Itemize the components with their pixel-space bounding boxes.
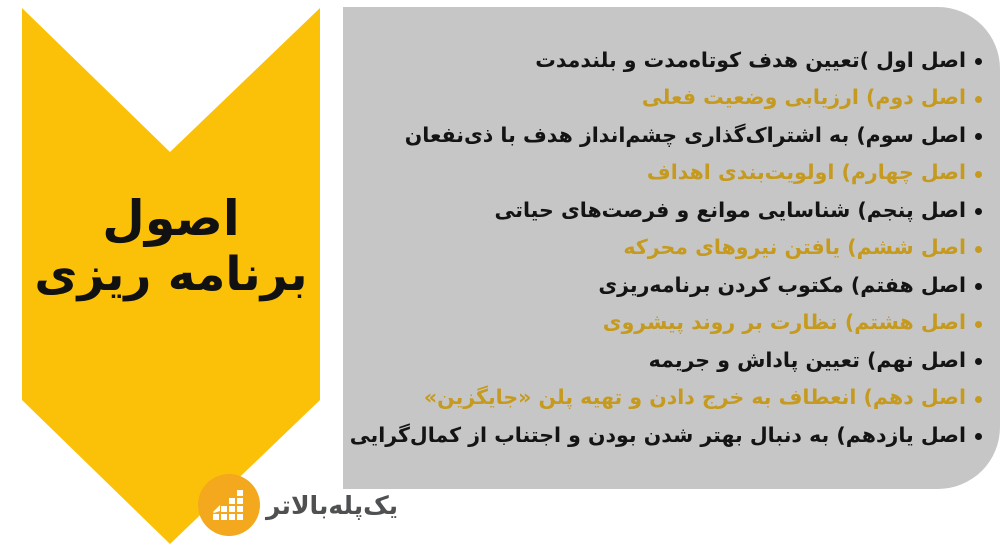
- principle-item: اصل اول )تعیین هدف کوتاه‌مدت و بلندمدت: [349, 42, 1000, 80]
- bullet-icon: [975, 208, 982, 215]
- principle-row: اصل پنجم) شناسایی موانع و فرصت‌های حیاتی: [495, 198, 982, 224]
- bullet-icon: [975, 58, 982, 65]
- principle-item: اصل سوم) به اشتراک‌گذاری چشم‌انداز هدف ب…: [349, 117, 1000, 155]
- principle-item: اصل دوم) ارزیابی وضعیت فعلی: [349, 79, 1000, 117]
- principle-text: اصل دوم) ارزیابی وضعیت فعلی: [642, 85, 966, 111]
- principle-item: اصل پنجم) شناسایی موانع و فرصت‌های حیاتی: [349, 192, 1000, 230]
- bullet-icon: [975, 321, 982, 328]
- principles-list: اصل اول )تعیین هدف کوتاه‌مدت و بلندمدتاص…: [343, 7, 1000, 489]
- principle-item: اصل هفتم) مکتوب کردن برنامه‌ریزی: [349, 267, 1000, 305]
- brand-name: یک‌پله‌بالاتر: [266, 491, 398, 520]
- principle-row: اصل دوم) ارزیابی وضعیت فعلی: [642, 85, 982, 111]
- bullet-icon: [975, 283, 982, 290]
- principle-item: اصل نهم) تعیین پاداش و جریمه: [349, 342, 1000, 380]
- principle-row: اصل هفتم) مکتوب کردن برنامه‌ریزی: [598, 273, 982, 299]
- banner-title-line2: برنامه ریزی: [22, 247, 320, 302]
- principle-item: اصل ششم) یافتن نیروهای محرکه: [349, 229, 1000, 267]
- principle-row: اصل یازدهم) به دنبال بهتر شدن بودن و اجت…: [350, 423, 982, 449]
- principle-row: اصل اول )تعیین هدف کوتاه‌مدت و بلندمدت: [535, 48, 982, 74]
- principle-row: اصل چهارم) اولویت‌بندی اهداف: [647, 160, 982, 186]
- principle-item: اصل دهم) انعطاف به خرج دادن و تهیه پلن «…: [349, 379, 1000, 417]
- principle-text: اصل ششم) یافتن نیروهای محرکه: [623, 235, 966, 261]
- principle-text: اصل یازدهم) به دنبال بهتر شدن بودن و اجت…: [350, 423, 966, 449]
- banner-title: اصول برنامه ریزی: [22, 192, 320, 302]
- bullet-icon: [975, 396, 982, 403]
- banner-title-line1: اصول: [22, 192, 320, 247]
- principle-text: اصل هفتم) مکتوب کردن برنامه‌ریزی: [598, 273, 966, 299]
- brand-logo[interactable]: یک‌پله‌بالاتر: [190, 474, 398, 536]
- principle-text: اصل اول )تعیین هدف کوتاه‌مدت و بلندمدت: [535, 48, 966, 74]
- principle-text: اصل سوم) به اشتراک‌گذاری چشم‌انداز هدف ب…: [405, 123, 966, 149]
- bullet-icon: [975, 133, 982, 140]
- principle-row: اصل سوم) به اشتراک‌گذاری چشم‌انداز هدف ب…: [405, 123, 982, 149]
- principle-row: اصل هشتم) نظارت بر روند پیشروی: [603, 310, 982, 336]
- bullet-icon: [975, 433, 982, 440]
- principle-item: اصل یازدهم) به دنبال بهتر شدن بودن و اجت…: [349, 417, 1000, 455]
- bullet-icon: [975, 171, 982, 178]
- principle-text: اصل پنجم) شناسایی موانع و فرصت‌های حیاتی: [495, 198, 966, 224]
- principle-text: اصل هشتم) نظارت بر روند پیشروی: [603, 310, 966, 336]
- principle-text: اصل نهم) تعیین پاداش و جریمه: [649, 348, 966, 374]
- principles-panel: اصل اول )تعیین هدف کوتاه‌مدت و بلندمدتاص…: [343, 7, 1000, 489]
- principle-row: اصل ششم) یافتن نیروهای محرکه: [623, 235, 982, 261]
- principle-item: اصل چهارم) اولویت‌بندی اهداف: [349, 154, 1000, 192]
- ascending-bars-icon: [198, 474, 260, 536]
- principle-text: اصل چهارم) اولویت‌بندی اهداف: [647, 160, 966, 186]
- infographic-canvas: اصل اول )تعیین هدف کوتاه‌مدت و بلندمدتاص…: [0, 0, 1000, 544]
- bullet-icon: [975, 246, 982, 253]
- principle-row: اصل نهم) تعیین پاداش و جریمه: [649, 348, 982, 374]
- principle-item: اصل هشتم) نظارت بر روند پیشروی: [349, 304, 1000, 342]
- principle-text: اصل دهم) انعطاف به خرج دادن و تهیه پلن «…: [424, 385, 966, 411]
- principle-row: اصل دهم) انعطاف به خرج دادن و تهیه پلن «…: [424, 385, 982, 411]
- bullet-icon: [975, 358, 982, 365]
- bullet-icon: [975, 96, 982, 103]
